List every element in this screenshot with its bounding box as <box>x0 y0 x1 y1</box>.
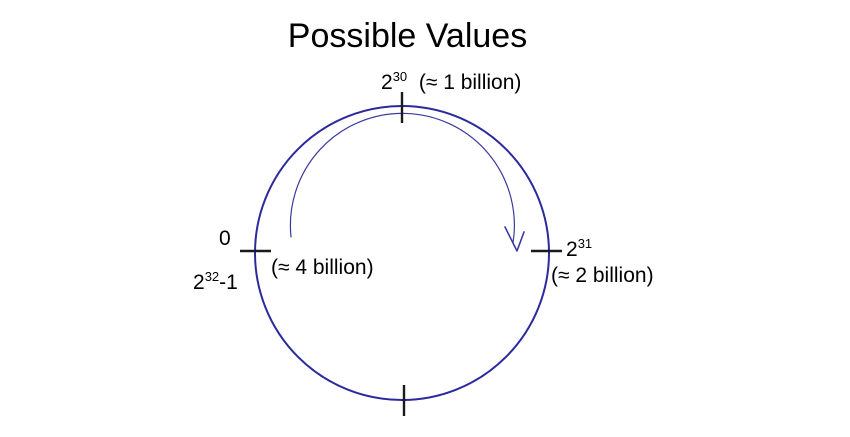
slide-canvas: Possible Values 230 (≈ 1 billion) 231 (≈… <box>0 0 850 437</box>
label-2-pow-30-exponent: 30 <box>393 69 407 84</box>
number-wheel-diagram <box>0 0 850 437</box>
label-2-pow-30: 230 (≈ 1 billion) <box>381 70 521 95</box>
label-2-pow-32-suffix: -1 <box>219 271 238 294</box>
wheel-circle <box>255 106 549 400</box>
label-2-pow-31-base: 2 <box>566 238 578 261</box>
label-2-pow-32-exponent: 32 <box>205 269 219 284</box>
label-2-pow-31-exponent: 31 <box>578 236 592 251</box>
label-2-pow-32-minus-1: 232-1 <box>193 270 238 295</box>
clockwise-arrow-arc <box>290 113 514 243</box>
label-2-pow-30-approx: (≈ 1 billion) <box>419 71 522 94</box>
label-two-billion: (≈ 2 billion) <box>551 263 654 288</box>
label-2-pow-30-base: 2 <box>381 71 393 94</box>
label-2-pow-31: 231 <box>566 237 592 262</box>
label-four-billion: (≈ 4 billion) <box>271 255 374 280</box>
label-zero: 0 <box>219 226 231 251</box>
label-2-pow-32-base: 2 <box>193 271 205 294</box>
